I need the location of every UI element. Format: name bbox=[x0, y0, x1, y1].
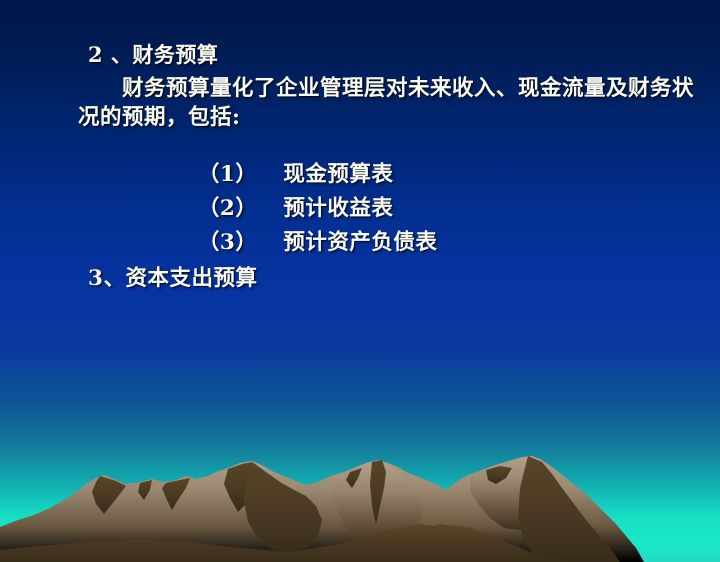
list-item-marker: （3） bbox=[198, 230, 257, 256]
slide-section-heading-3: 3、资本支出预算 bbox=[88, 266, 257, 292]
slide-heading: 2 、财务预算 bbox=[88, 42, 218, 68]
mountain-shadow-mass-right bbox=[518, 456, 620, 562]
slide-paragraph: 财务预算量化了企业管理层对未来收入、现金流量及财务状况的预期，包括: bbox=[78, 74, 710, 132]
presentation-slide: 2 、财务预算 财务预算量化了企业管理层对未来收入、现金流量及财务状况的预期，包… bbox=[0, 0, 720, 562]
mountain-range-illustration bbox=[0, 432, 720, 562]
list-item-label: 预计资产负债表 bbox=[283, 230, 437, 255]
